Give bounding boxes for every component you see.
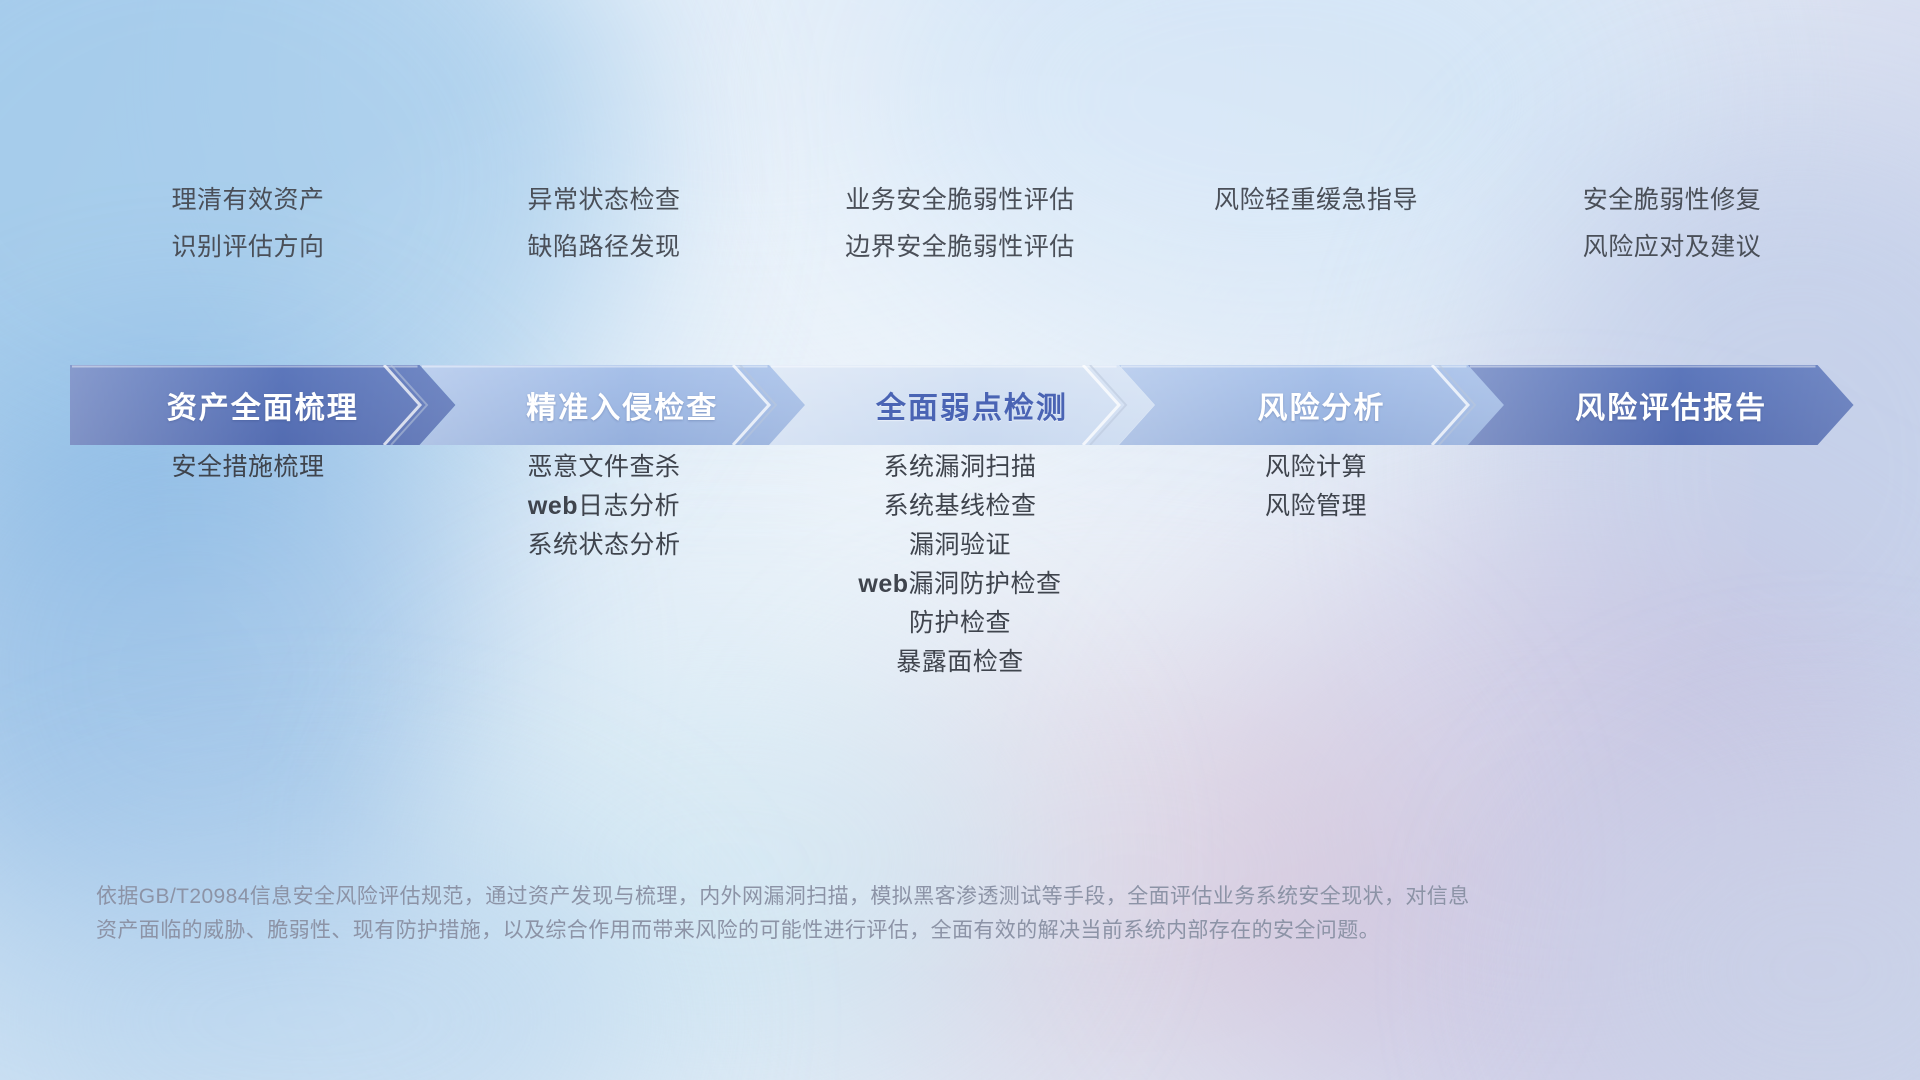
footer-line-1: 依据GB/T20984信息安全风险评估规范，通过资产发现与梳理，内外网漏洞扫描，… [96, 880, 1626, 914]
chevron-label: 风险分析 [1257, 383, 1385, 427]
bottom-column-5: 安全风险加固及建议 [1494, 416, 1850, 689]
top-item: 边界安全脆弱性评估 [782, 235, 1138, 260]
top-column-1: 理清有效资产识别评估方向 [70, 188, 426, 282]
top-column-4: 风险轻重缓急指导 [1138, 188, 1494, 282]
bottom-item: 风险管理 [1138, 494, 1494, 519]
chevron-separator [377, 365, 463, 445]
bottom-column-2: webshell检查恶意文件查杀web日志分析系统状态分析 [426, 416, 782, 689]
top-item: 识别评估方向 [70, 235, 426, 260]
top-item: 安全脆弱性修复 [1494, 188, 1850, 213]
bottom-column-1: 业务系统梳理安全措施梳理 [70, 416, 426, 689]
chevron-label: 资产全面梳理 [167, 383, 359, 427]
chevron-label: 风险评估报告 [1575, 383, 1767, 427]
top-items-row: 理清有效资产识别评估方向异常状态检查缺陷路径发现业务安全脆弱性评估边界安全脆弱性… [70, 188, 1850, 282]
bottom-item: 风险计算 [1138, 455, 1494, 480]
top-item: 业务安全脆弱性评估 [782, 188, 1138, 213]
top-item: 风险应对及建议 [1494, 235, 1850, 260]
bottom-item: 系统漏洞扫描 [782, 455, 1138, 480]
bottom-item: 安全措施梳理 [70, 455, 426, 480]
chevron-label: 精准入侵检查 [526, 383, 718, 427]
bottom-column-3: web安全扫描系统漏洞扫描系统基线检查漏洞验证web漏洞防护检查防护检查暴露面检… [782, 416, 1138, 689]
chevron-stage-5[interactable]: 风险评估报告 [1468, 365, 1854, 445]
top-item: 理清有效资产 [70, 188, 426, 213]
bottom-item: 系统状态分析 [426, 533, 782, 558]
top-column-5: 安全脆弱性修复风险应对及建议 [1494, 188, 1850, 282]
top-item: 异常状态检查 [426, 188, 782, 213]
bottom-column-4: 已有安全控制措施风险计算风险管理 [1138, 416, 1494, 689]
top-item: 风险轻重缓急指导 [1138, 188, 1494, 213]
bottom-item: 暴露面检查 [782, 650, 1138, 675]
bottom-item: 漏洞验证 [782, 533, 1138, 558]
top-column-2: 异常状态检查缺陷路径发现 [426, 188, 782, 282]
chevron-separator [1425, 365, 1511, 445]
chevron-separator [1076, 365, 1162, 445]
bottom-item: 恶意文件查杀 [426, 455, 782, 480]
bottom-item: 防护检查 [782, 611, 1138, 636]
top-column-3: 业务安全脆弱性评估边界安全脆弱性评估 [782, 188, 1138, 282]
bottom-item: 系统基线检查 [782, 494, 1138, 519]
bottom-item: web日志分析 [426, 494, 782, 519]
footer-description: 依据GB/T20984信息安全风险评估规范，通过资产发现与梳理，内外网漏洞扫描，… [96, 880, 1626, 948]
bottom-item: web漏洞防护检查 [782, 572, 1138, 597]
footer-line-2: 资产面临的威胁、脆弱性、现有防护措施，以及综合作用而带来风险的可能性进行评估，全… [96, 914, 1626, 948]
chevron-separator [726, 365, 812, 445]
bottom-items-row: 业务系统梳理安全措施梳理webshell检查恶意文件查杀web日志分析系统状态分… [70, 416, 1850, 689]
top-item: 缺陷路径发现 [426, 235, 782, 260]
chevron-label: 全面弱点检测 [876, 383, 1068, 427]
process-chevron-band: 资产全面梳理精准入侵检查全面弱点检测风险分析风险评估报告 [70, 365, 1854, 445]
